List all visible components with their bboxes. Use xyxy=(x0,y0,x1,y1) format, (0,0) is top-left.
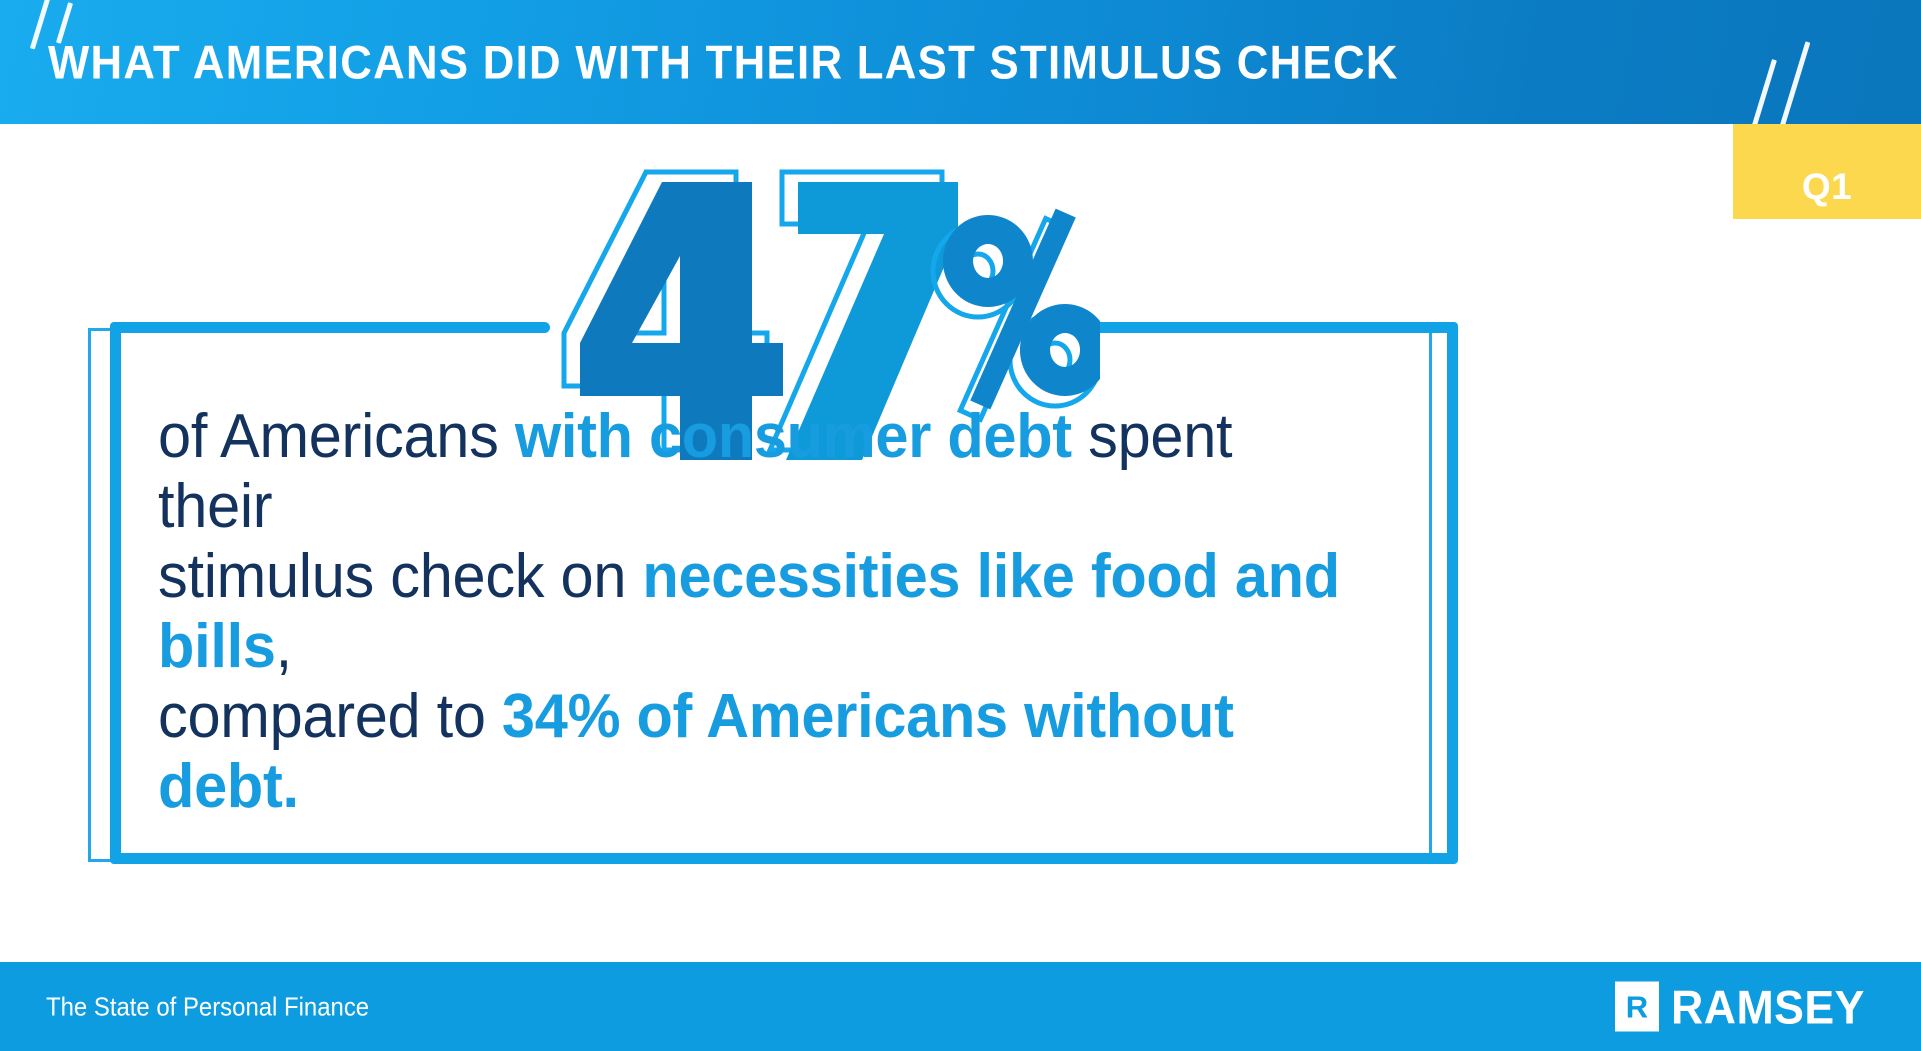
quarter-badge: Q1 xyxy=(1733,124,1921,219)
ramsey-logo: R RAMSEY xyxy=(1615,979,1875,1034)
statement-line-3-plain-a: compared to xyxy=(158,682,502,751)
statement-line-1-plain-a: of Americans xyxy=(158,402,515,471)
statement-line-2-plain-a: stimulus check on xyxy=(158,542,642,611)
quarter-badge-label: Q1 xyxy=(1802,166,1852,208)
infographic-canvas: WHAT AMERICANS DID WITH THEIR LAST STIMU… xyxy=(0,0,1921,1051)
callout-box-top-gap xyxy=(543,310,1096,340)
statement-line-1-bold: with consumer debt xyxy=(515,402,1072,471)
footer-band: The State of Personal Finance R RAMSEY xyxy=(0,962,1921,1051)
callout-box-top-segment-left xyxy=(110,322,550,333)
statement-text: of Americans with consumer debt spent th… xyxy=(158,402,1358,822)
header-band: WHAT AMERICANS DID WITH THEIR LAST STIMU… xyxy=(0,0,1921,124)
statement-line-2-plain-b: , xyxy=(276,612,292,681)
footer-tagline: The State of Personal Finance xyxy=(46,991,369,1022)
callout-box-top-segment-right xyxy=(1090,322,1458,333)
ramsey-logo-wordmark: RAMSEY xyxy=(1671,979,1865,1034)
ramsey-logo-mark: R xyxy=(1615,982,1659,1032)
page-title: WHAT AMERICANS DID WITH THEIR LAST STIMU… xyxy=(48,35,1399,90)
